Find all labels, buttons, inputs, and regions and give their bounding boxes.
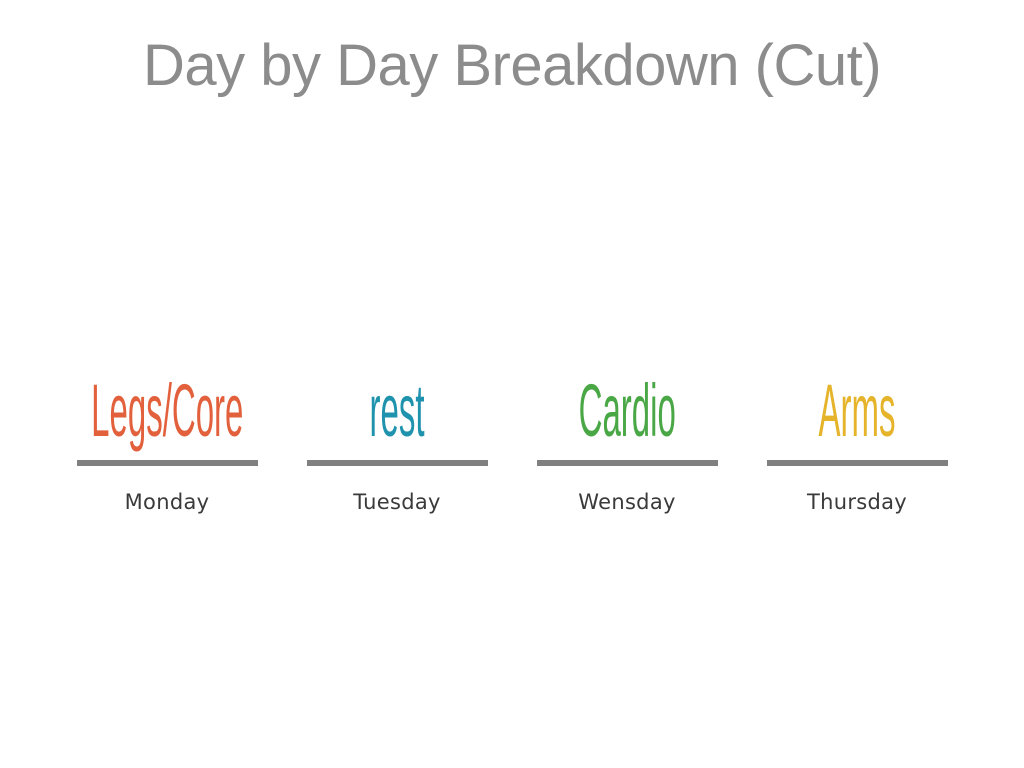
day-label-tuesday: Tuesday (353, 490, 441, 514)
day-label-wensday: Wensday (578, 490, 675, 514)
day-column-thursday[interactable]: Arms Thursday (752, 360, 962, 514)
day-label-monday: Monday (125, 490, 210, 514)
column-divider-monday (77, 460, 258, 466)
day-column-wensday[interactable]: Cardio Wensday (522, 360, 732, 514)
slide-canvas: Day by Day Breakdown (Cut) Legs/Core Mon… (0, 0, 1024, 768)
workout-heading-tuesday-text: rest (369, 376, 424, 446)
page-title: Day by Day Breakdown (Cut) (62, 20, 962, 112)
workout-heading-thursday-text: Arms (818, 376, 895, 446)
day-breakdown-columns: Legs/Core Monday rest Tuesday Cardio Wen… (62, 360, 962, 535)
day-column-tuesday[interactable]: rest Tuesday (292, 360, 502, 514)
day-label-thursday: Thursday (807, 490, 907, 514)
column-divider-thursday (767, 460, 948, 466)
workout-heading-monday-text: Legs/Core (91, 376, 243, 446)
day-column-monday[interactable]: Legs/Core Monday (62, 360, 272, 514)
column-divider-wensday (537, 460, 718, 466)
workout-heading-wensday-text: Cardio (578, 376, 675, 446)
workout-heading-thursday: Arms (752, 360, 962, 446)
workout-heading-monday: Legs/Core (62, 360, 272, 446)
column-divider-tuesday (307, 460, 488, 466)
workout-heading-tuesday: rest (292, 360, 502, 446)
workout-heading-wensday: Cardio (522, 360, 732, 446)
